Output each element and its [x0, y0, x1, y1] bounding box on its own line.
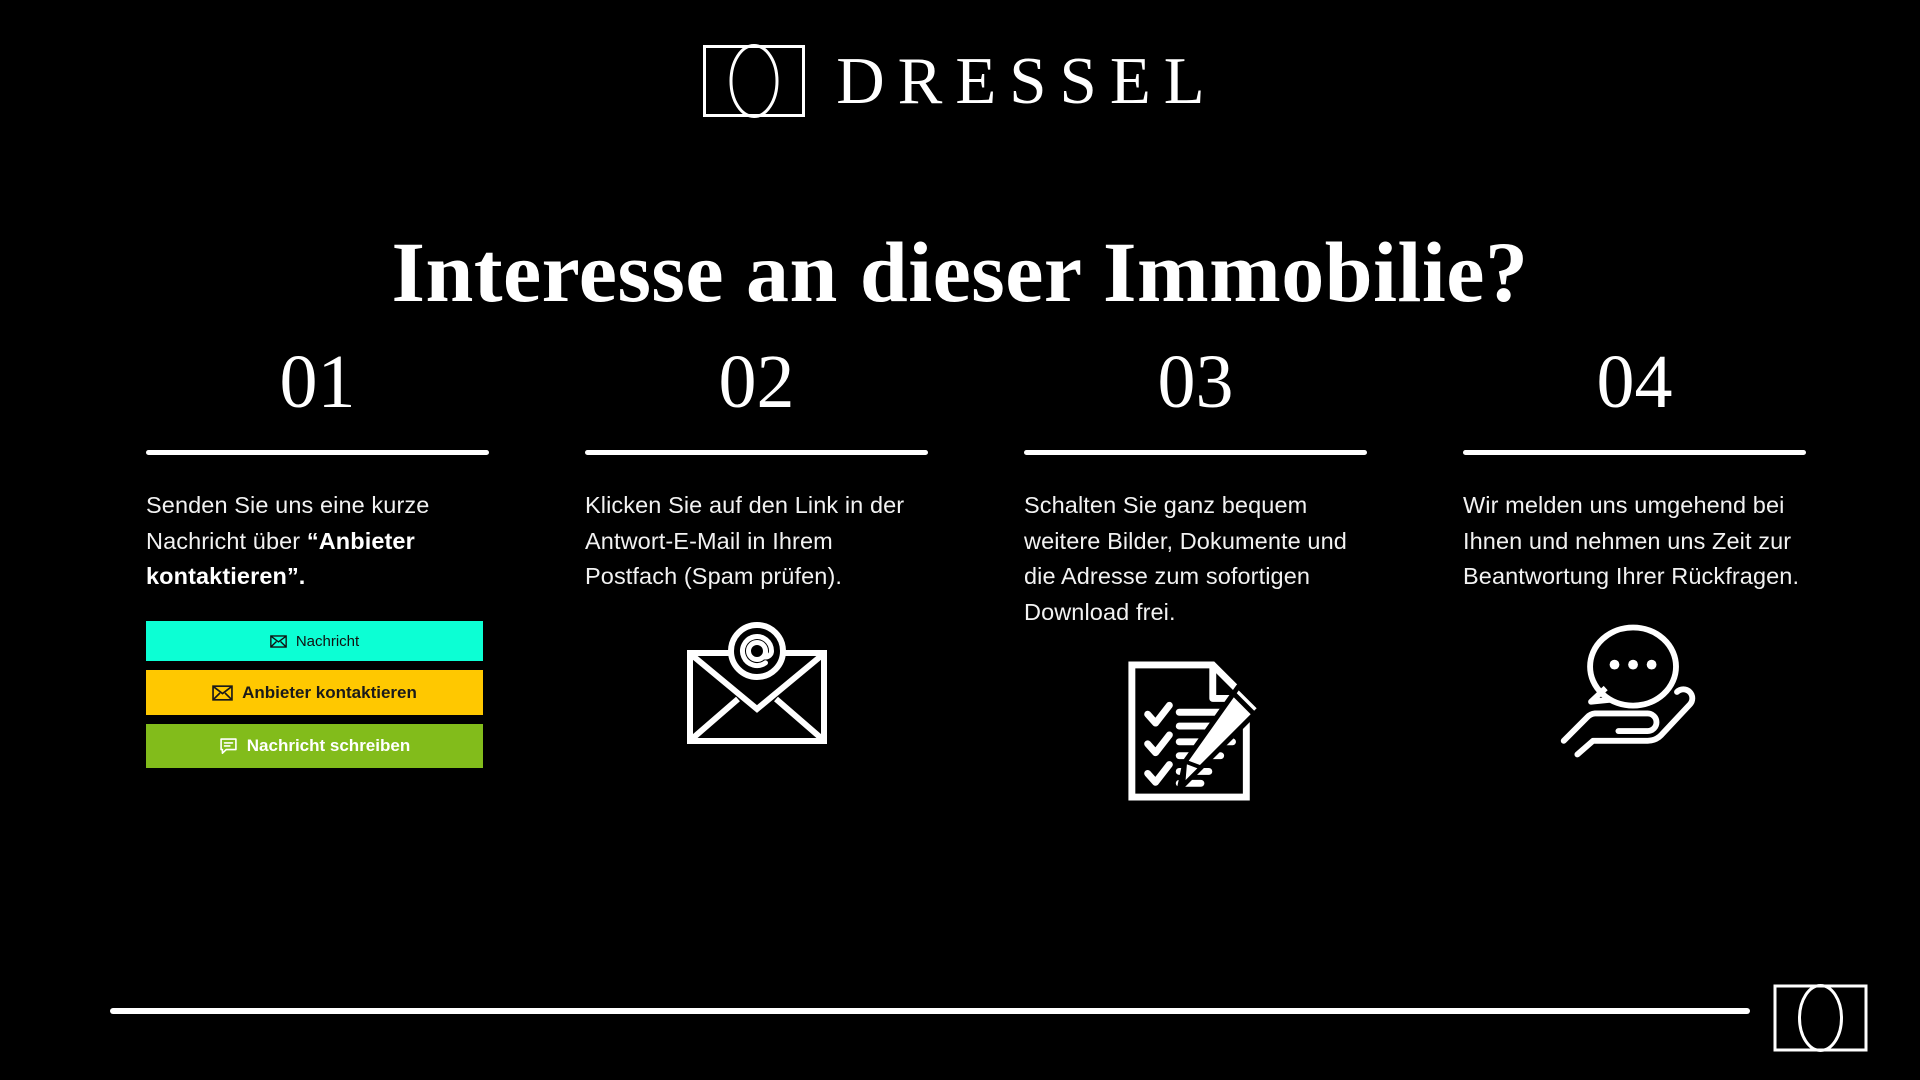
checklist-document-pencil-icon: [1122, 657, 1270, 805]
step-divider: [1024, 450, 1367, 455]
step-media: [1024, 657, 1367, 807]
step-media: [1463, 621, 1806, 771]
nachricht-button-label: Nachricht: [296, 633, 359, 650]
step-card-01: 01 Senden Sie uns eine kurze Nachricht ü…: [146, 344, 489, 807]
step-description-tail: .: [299, 563, 306, 589]
nachricht-schreiben-button-label: Nachricht schreiben: [247, 736, 410, 756]
step-card-02: 02 Klicken Sie auf den Link in der Antwo…: [585, 344, 928, 807]
step-description: Wir melden uns umgehend bei Ihnen und ne…: [1463, 488, 1806, 595]
message-bubble-icon: [219, 737, 238, 756]
contact-button-stack: Nachricht Anbieter kontaktieren: [146, 621, 483, 768]
step-number: 02: [585, 344, 928, 428]
step-number: 03: [1024, 344, 1367, 428]
nachricht-schreiben-button[interactable]: Nachricht schreiben: [146, 724, 483, 768]
step-number: 01: [146, 344, 489, 428]
step-divider: [585, 450, 928, 455]
anbieter-kontaktieren-button-label: Anbieter kontaktieren: [242, 683, 417, 703]
slide-root: DRESSEL Interesse an dieser Immobilie? 0…: [0, 0, 1920, 1080]
step-number: 04: [1463, 344, 1806, 428]
step-card-03: 03 Schalten Sie ganz bequem weitere Bild…: [1024, 344, 1367, 807]
page-title: Interesse an dieser Immobilie?: [0, 226, 1920, 319]
step-divider: [146, 450, 489, 455]
step-description: Senden Sie uns eine kurze Nachricht über…: [146, 488, 489, 595]
dressel-monogram-icon: [702, 44, 806, 118]
dressel-monogram-icon: [1773, 984, 1868, 1052]
step-card-04: 04 Wir melden uns umgehend bei Ihnen und…: [1463, 344, 1806, 807]
envelope-icon: [212, 685, 233, 701]
email-at-envelope-icon: [682, 621, 832, 749]
anbieter-kontaktieren-button[interactable]: Anbieter kontaktieren: [146, 670, 483, 715]
envelope-icon: [270, 635, 287, 648]
footer-divider: [110, 1008, 1750, 1014]
step-description: Klicken Sie auf den Link in der Antwort-…: [585, 488, 928, 595]
brand-wordmark: DRESSEL: [832, 48, 1217, 115]
hand-holding-speech-bubble-icon: [1552, 621, 1718, 759]
step-description: Schalten Sie ganz bequem weitere Bilder,…: [1024, 488, 1367, 631]
step-media: [585, 621, 928, 771]
step-divider: [1463, 450, 1806, 455]
nachricht-button[interactable]: Nachricht: [146, 621, 483, 661]
brand-header: DRESSEL: [0, 44, 1920, 118]
steps-grid: 01 Senden Sie uns eine kurze Nachricht ü…: [146, 344, 1806, 807]
step-media: Nachricht Anbieter kontaktieren: [146, 621, 489, 771]
